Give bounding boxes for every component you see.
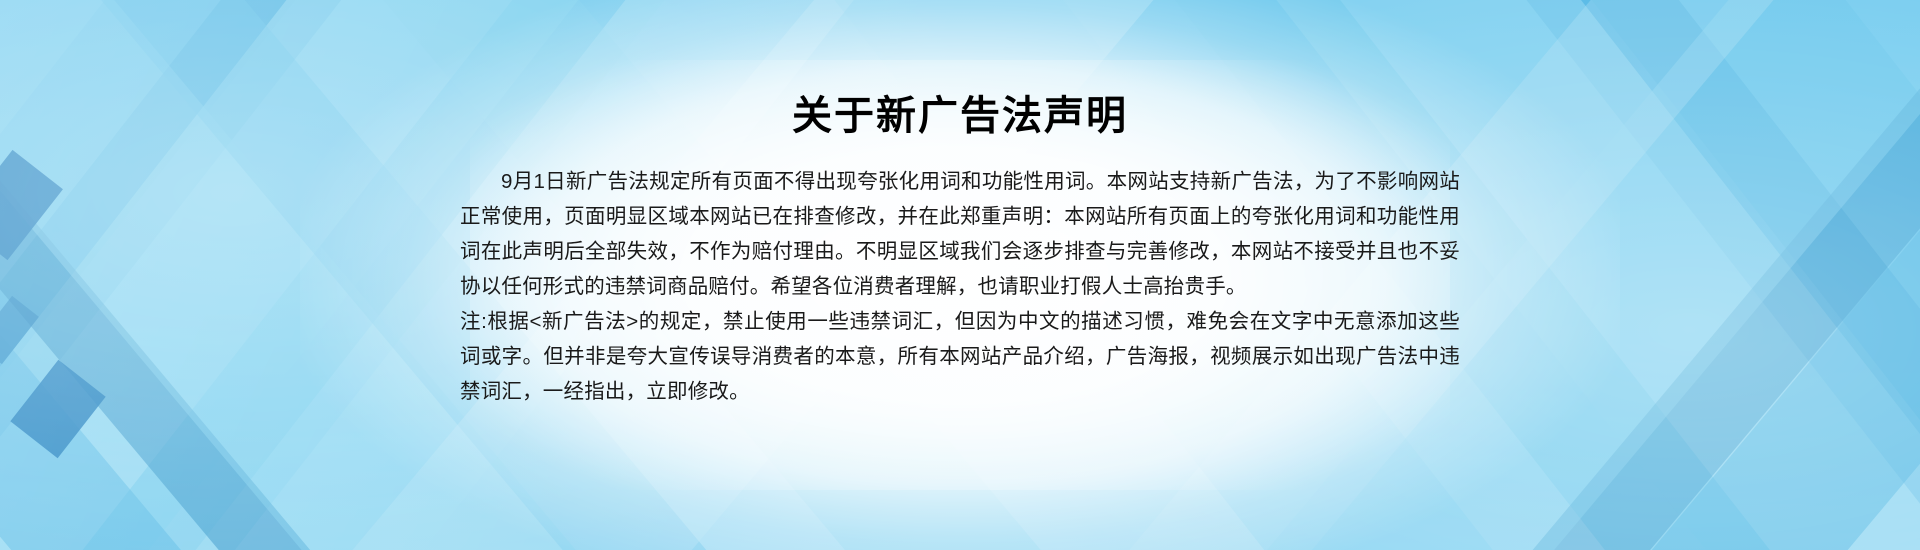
- page-title: 关于新广告法声明: [460, 0, 1460, 140]
- statement-text-block: 9月1日新广告法规定所有页面不得出现夸张化用词和功能性用词。本网站支持新广告法，…: [460, 164, 1460, 409]
- statement-paragraph-body: 9月1日新广告法规定所有页面不得出现夸张化用词和功能性用词。本网站支持新广告法，…: [460, 164, 1460, 304]
- statement-content: 关于新广告法声明 9月1日新广告法规定所有页面不得出现夸张化用词和功能性用词。本…: [460, 0, 1460, 550]
- statement-paragraph-note: 注:根据<新广告法>的规定，禁止使用一些违禁词汇，但因为中文的描述习惯，难免会在…: [460, 304, 1460, 409]
- advertising-law-statement-banner: 关于新广告法声明 9月1日新广告法规定所有页面不得出现夸张化用词和功能性用词。本…: [0, 0, 1920, 550]
